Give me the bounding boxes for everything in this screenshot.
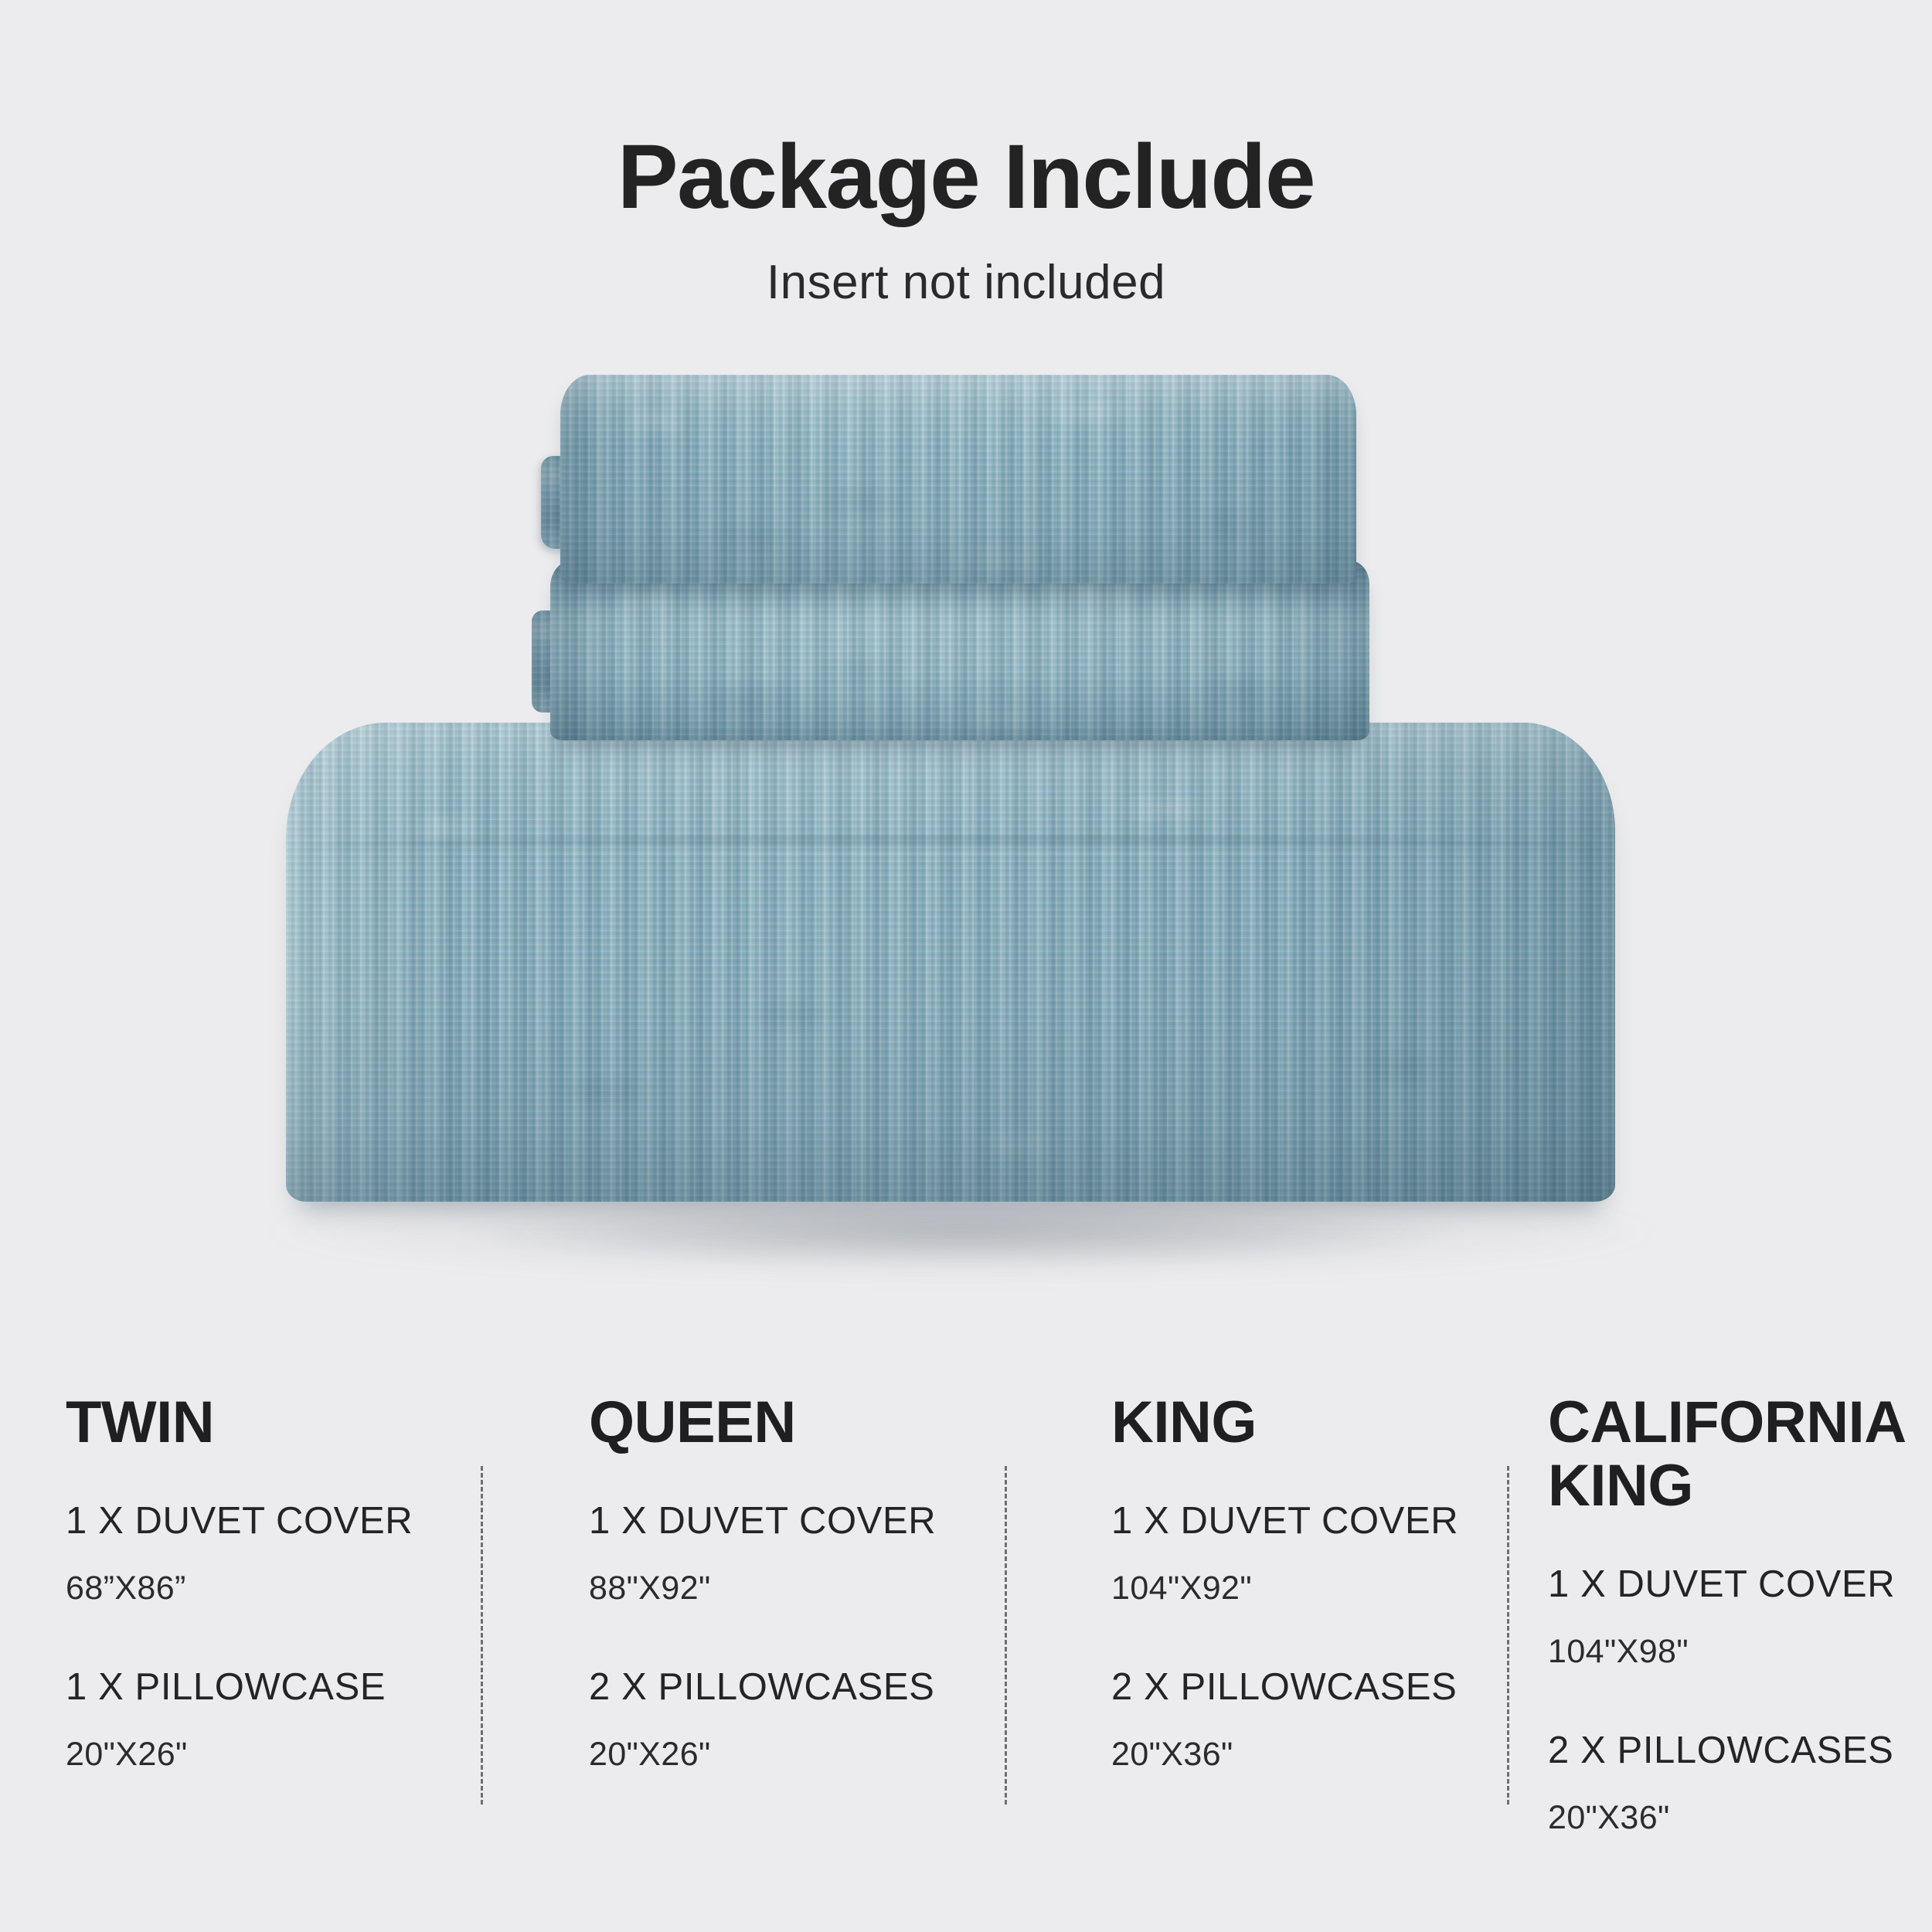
size-item-dimensions: 104"X98" <box>1548 1606 1911 1670</box>
size-name: KING <box>1111 1391 1544 1454</box>
size-item-label: 1 X DUVET COVER <box>1548 1564 1911 1606</box>
size-item-label: 1 X DUVET COVER <box>1111 1501 1544 1543</box>
fabric-shading <box>550 561 1369 740</box>
size-item-dimensions: 20"X36" <box>1548 1772 1911 1836</box>
size-item: 1 X DUVET COVER 104"X92" <box>1111 1501 1544 1607</box>
fabric-crease <box>303 836 1600 856</box>
size-name: TWIN <box>66 1391 498 1454</box>
fabric-shading <box>560 375 1356 583</box>
spacer <box>589 1607 1022 1667</box>
size-items: 1 X DUVET COVER 88"X92" 2 X PILLOWCASES … <box>589 1454 1022 1773</box>
column-divider <box>1507 1466 1509 1804</box>
size-column-california-king: CALIFORNIA KING 1 X DUVET COVER 104"X98"… <box>1548 1391 1911 1837</box>
product-drop-shadow <box>255 1196 1669 1289</box>
size-item-dimensions: 20"X26" <box>589 1709 1022 1773</box>
size-item-dimensions: 20"X36" <box>1111 1709 1544 1773</box>
size-table: TWIN 1 X DUVET COVER 68”X86” 1 X PILLOWC… <box>0 1391 1932 1870</box>
page-subtitle: Insert not included <box>0 223 1932 310</box>
size-item-label: 1 X PILLOWCASE <box>66 1667 498 1709</box>
header: Package Include Insert not included <box>0 0 1932 310</box>
size-item: 2 X PILLOWCASES 20"X36" <box>1111 1667 1544 1773</box>
size-item: 1 X DUVET COVER 104"X98" <box>1548 1564 1911 1670</box>
size-column-queen: QUEEN 1 X DUVET COVER 88"X92" 2 X PILLOW… <box>589 1391 1022 1773</box>
size-item: 1 X PILLOWCASE 20"X26" <box>66 1667 498 1773</box>
column-divider <box>481 1466 483 1804</box>
size-name: QUEEN <box>589 1391 1022 1454</box>
size-item-dimensions: 88"X92" <box>589 1543 1022 1607</box>
size-name: CALIFORNIA KING <box>1548 1391 1911 1518</box>
top-rolled-pillowcase <box>560 375 1356 583</box>
spacer <box>1111 1607 1544 1667</box>
page-title: Package Include <box>0 131 1932 223</box>
size-item-dimensions: 68”X86” <box>66 1543 498 1607</box>
size-item-label: 2 X PILLOWCASES <box>1548 1730 1911 1772</box>
size-item-label: 2 X PILLOWCASES <box>589 1667 1022 1709</box>
size-item-dimensions: 104"X92" <box>1111 1543 1544 1607</box>
size-item: 1 X DUVET COVER 88"X92" <box>589 1501 1022 1607</box>
middle-rolled-pillowcase <box>550 561 1369 740</box>
size-item: 1 X DUVET COVER 68”X86” <box>66 1501 498 1607</box>
size-item-label: 1 X DUVET COVER <box>589 1501 1022 1543</box>
size-item-dimensions: 20"X26" <box>66 1709 498 1773</box>
size-column-king: KING 1 X DUVET COVER 104"X92" 2 X PILLOW… <box>1111 1391 1544 1773</box>
product-image <box>0 332 1932 1298</box>
size-item-label: 2 X PILLOWCASES <box>1111 1667 1544 1709</box>
bottom-folded-duvet-cover <box>286 723 1615 1202</box>
size-item: 2 X PILLOWCASES 20"X36" <box>1548 1730 1911 1836</box>
size-column-twin: TWIN 1 X DUVET COVER 68”X86” 1 X PILLOWC… <box>66 1391 498 1773</box>
spacer <box>66 1607 498 1667</box>
column-divider <box>1005 1466 1007 1804</box>
fabric-shading <box>286 723 1615 1202</box>
size-items: 1 X DUVET COVER 68”X86” 1 X PILLOWCASE 2… <box>66 1454 498 1773</box>
size-item-label: 1 X DUVET COVER <box>66 1501 498 1543</box>
size-items: 1 X DUVET COVER 104"X92" 2 X PILLOWCASES… <box>1111 1454 1544 1773</box>
size-item: 2 X PILLOWCASES 20"X26" <box>589 1667 1022 1773</box>
size-items: 1 X DUVET COVER 104"X98" 2 X PILLOWCASES… <box>1548 1518 1911 1836</box>
spacer <box>1548 1670 1911 1730</box>
